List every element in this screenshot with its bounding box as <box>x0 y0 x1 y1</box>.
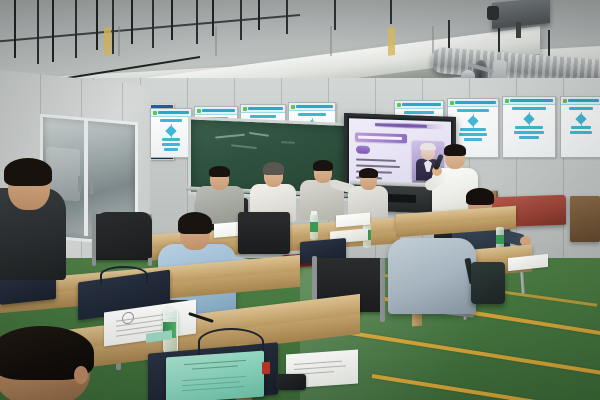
projector-lens-icon <box>487 6 499 20</box>
poster-logo-icon <box>505 99 509 103</box>
poster-header <box>395 101 443 109</box>
bottle-cap <box>311 211 317 215</box>
flowchart-poster <box>560 96 600 158</box>
chalk-mark <box>281 141 295 144</box>
bottle-label <box>310 222 318 232</box>
door-handle[interactable] <box>90 178 93 194</box>
duct-seam <box>330 26 332 56</box>
ceiling-grid-bar <box>171 0 173 40</box>
poster-header-text <box>402 103 441 106</box>
poster-header-text <box>568 99 599 102</box>
poster-logo-icon <box>563 99 567 103</box>
classroom-photo: Classroom training session industrial tr… <box>0 0 600 400</box>
foreground-person-ear <box>74 366 88 384</box>
wooden-chair[interactable] <box>570 196 600 242</box>
poster-header-text <box>296 105 333 108</box>
presenter-hair <box>444 144 466 156</box>
duct-seam <box>215 26 217 56</box>
audience-hair <box>466 188 494 205</box>
floor-bag[interactable] <box>471 262 505 304</box>
hanger-rod <box>334 0 336 30</box>
poster-header <box>448 99 498 107</box>
left-edge-person-hair <box>4 158 52 186</box>
poster-header <box>241 105 285 113</box>
booklet-text-line <box>182 386 244 391</box>
audience-hair <box>263 162 284 175</box>
poster-logo-icon <box>153 111 157 115</box>
hanger-rod <box>152 0 154 48</box>
poster-header <box>289 103 335 111</box>
ceiling-grid-bar <box>14 0 16 58</box>
duct-tape <box>104 27 111 56</box>
duct-tape <box>388 27 395 56</box>
duct-seam <box>118 26 120 56</box>
ceiling-grid-bar <box>131 0 133 44</box>
poster-logo-icon <box>291 105 295 109</box>
hanger-rod <box>240 0 242 40</box>
hanger-rod <box>196 0 198 44</box>
chalk-mark <box>249 132 269 137</box>
red-tab-marker <box>262 362 270 375</box>
training-booklet[interactable] <box>166 351 264 400</box>
booklet-title-line <box>184 360 246 365</box>
smartphone[interactable] <box>276 374 306 390</box>
hanger-rod <box>37 0 39 64</box>
hanger-rod <box>286 0 288 34</box>
door-mullion <box>84 118 88 236</box>
audience-body <box>96 212 152 258</box>
projector-mount-arm <box>516 22 521 38</box>
flowchart-poster <box>150 108 192 158</box>
door-handle[interactable] <box>78 176 81 192</box>
poster-logo-icon <box>450 101 454 105</box>
poster-header <box>151 109 191 117</box>
ceiling-grid-bar <box>52 0 54 62</box>
chair-frame <box>380 258 385 322</box>
hanger-rod <box>112 0 114 54</box>
ceiling-grid-bar <box>258 0 260 30</box>
audience-body <box>388 238 476 314</box>
audience-hair <box>313 160 333 171</box>
chalk-mark <box>231 144 257 149</box>
bottle-cap <box>165 306 174 312</box>
poster-logo-icon <box>197 109 201 113</box>
chalk-mark <box>215 134 245 139</box>
ceiling-grid-bar <box>212 0 214 36</box>
poster-header <box>561 97 600 105</box>
poster-header-text <box>202 109 235 112</box>
booklet-text-line <box>182 381 240 386</box>
poster-flowchart <box>561 105 600 138</box>
poster-header-text <box>455 101 496 104</box>
poster-logo-icon <box>243 107 247 111</box>
poster-flowchart <box>503 105 555 143</box>
bottle-label <box>496 235 504 244</box>
poster-header-text <box>248 107 283 110</box>
flowchart-poster <box>502 96 556 158</box>
poster-header <box>503 97 555 105</box>
chair-backrest[interactable] <box>238 212 290 254</box>
paper-text-line <box>294 365 346 370</box>
poster-header <box>195 107 237 115</box>
slide-body-line <box>356 164 400 168</box>
poster-header-text <box>510 99 553 102</box>
poster-logo-icon <box>397 103 401 107</box>
slide-pill-badge <box>356 145 370 153</box>
poster-flowchart <box>151 117 191 155</box>
paper-text-line <box>294 361 342 365</box>
ceiling-grid-bar <box>96 0 98 50</box>
booklet-title-line <box>192 365 238 369</box>
slide-body-line <box>356 158 396 161</box>
audience-hair <box>209 166 230 177</box>
hanger-rod <box>75 0 77 58</box>
hanger-rod <box>390 0 392 24</box>
portrait-hair <box>420 143 436 151</box>
tote-handle[interactable] <box>100 266 148 284</box>
audience-hair <box>178 212 212 234</box>
poster-header-text <box>158 111 189 114</box>
audience-hair <box>359 168 378 178</box>
